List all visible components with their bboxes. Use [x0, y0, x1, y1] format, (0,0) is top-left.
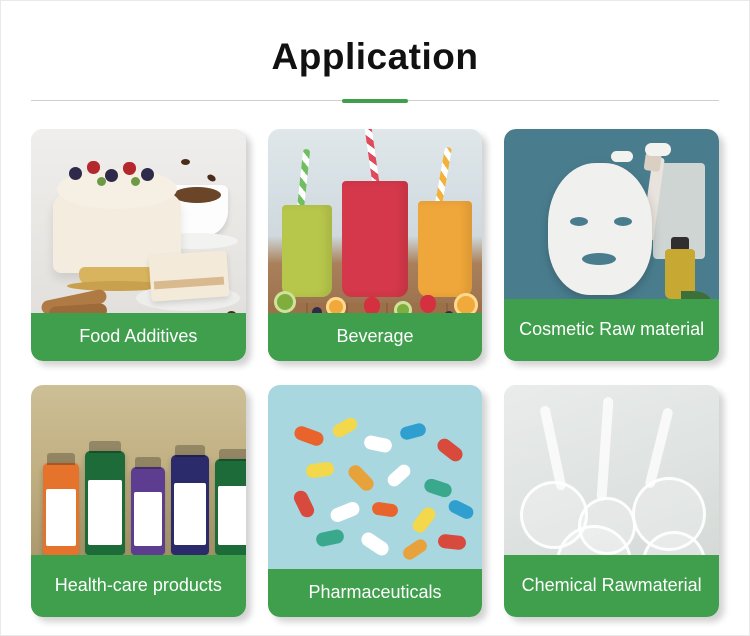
- application-page: Application: [0, 0, 750, 636]
- card-caption: Health-care products: [31, 555, 246, 617]
- application-card-chemical-rawmaterial[interactable]: Chemical Rawmaterial: [504, 385, 719, 617]
- page-header: Application: [1, 1, 749, 103]
- page-title: Application: [1, 35, 749, 79]
- card-caption: Cosmetic Raw material: [504, 299, 719, 361]
- application-card-beverage[interactable]: Beverage: [268, 129, 483, 361]
- application-card-food-additives[interactable]: Food Additives: [31, 129, 246, 361]
- card-caption: Pharmaceuticals: [268, 569, 483, 617]
- divider-accent: [342, 99, 408, 103]
- application-card-health-care-products[interactable]: Health-care products: [31, 385, 246, 617]
- application-card-pharmaceuticals[interactable]: Pharmaceuticals: [268, 385, 483, 617]
- application-card-cosmetic-raw-material[interactable]: Cosmetic Raw material: [504, 129, 719, 361]
- application-card-grid: Food Additives Bever: [31, 129, 719, 617]
- title-divider: [1, 99, 749, 103]
- card-caption: Food Additives: [31, 313, 246, 361]
- card-caption: Beverage: [268, 313, 483, 361]
- card-caption: Chemical Rawmaterial: [504, 555, 719, 617]
